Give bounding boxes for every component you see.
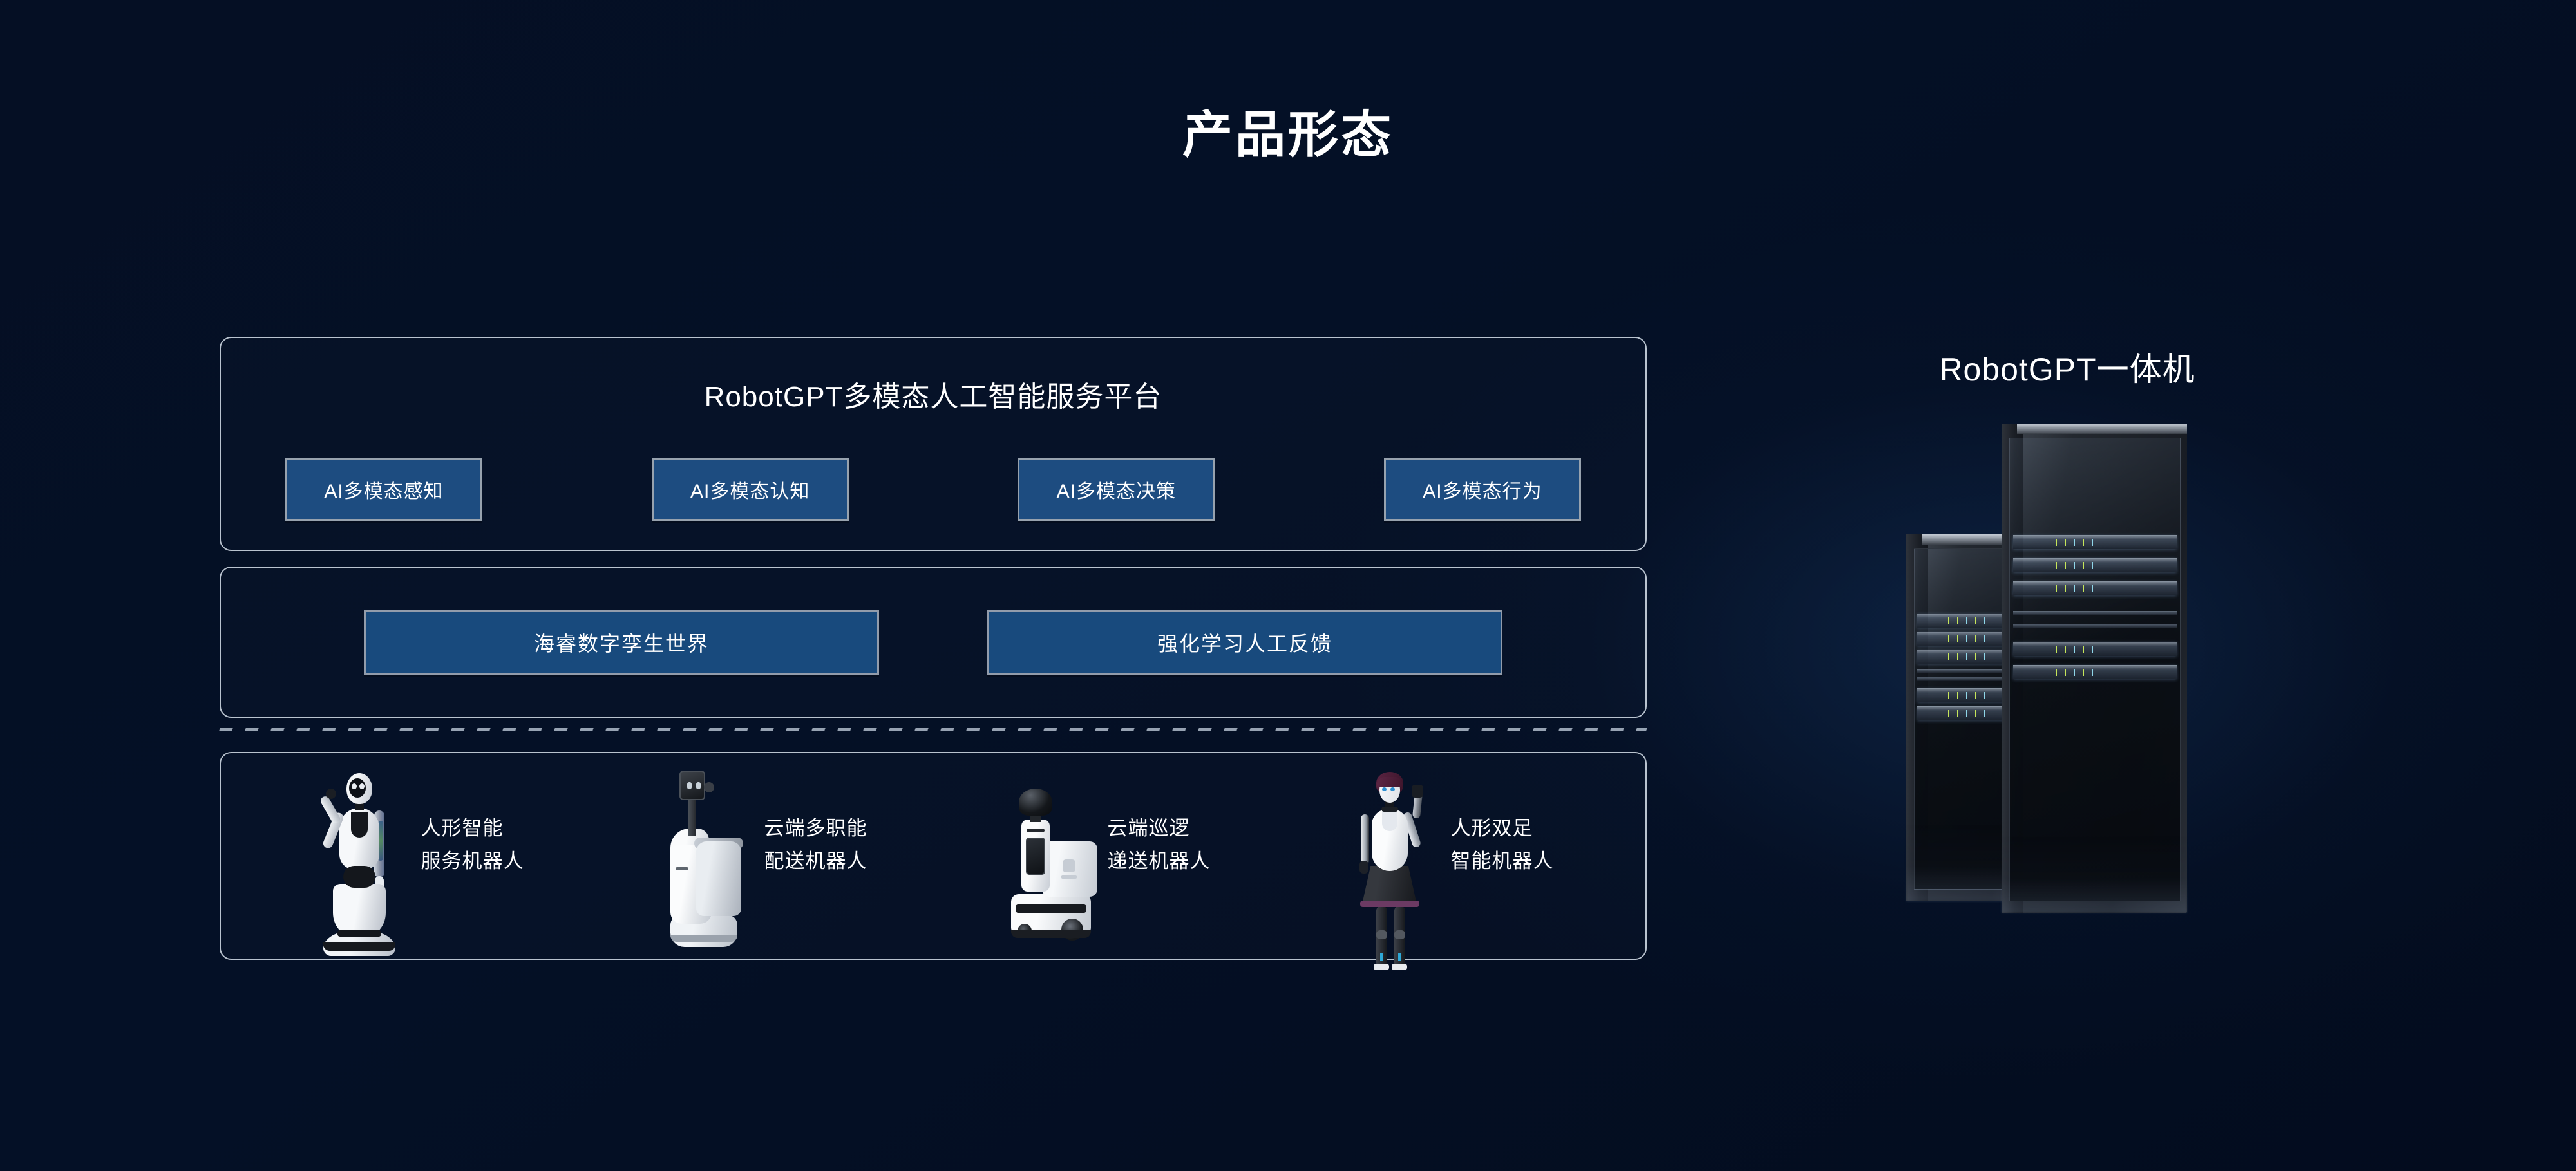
- robot-label-line1: 云端多职能: [764, 812, 867, 845]
- robot-label-line2: 配送机器人: [764, 845, 867, 877]
- server-rack-icon: [1906, 412, 2241, 1030]
- robot-row: 人形智能 服务机器人 云端多职能 配送机器人: [247, 767, 1620, 950]
- biped-humanoid-robot-icon: [1343, 769, 1439, 950]
- robot-label-humanoid-service: 人形智能 服务机器人: [421, 812, 524, 904]
- platform-card-title: RobotGPT多模态人工智能服务平台: [221, 373, 1645, 415]
- robot-item-cloud-patrol[interactable]: 云端巡逻 递送机器人: [999, 767, 1211, 950]
- robot-label-line2: 服务机器人: [421, 845, 524, 877]
- robots-card: 人形智能 服务机器人 云端多职能 配送机器人: [220, 752, 1647, 960]
- robot-label-line2: 递送机器人: [1108, 845, 1211, 877]
- robot-label-line1: 人形智能: [421, 812, 524, 845]
- slide-canvas: 产品形态 RobotGPT多模态人工智能服务平台 AI多模态感知 AI多模态认知…: [0, 0, 2576, 1171]
- engine-card: 海睿数字孪生世界 强化学习人工反馈: [220, 567, 1647, 718]
- humanoid-service-robot-icon: [313, 769, 410, 950]
- robot-item-biped-humanoid[interactable]: 人形双足 智能机器人: [1343, 767, 1554, 950]
- chip-ai-decision[interactable]: AI多模态决策: [1018, 458, 1215, 521]
- server-rack-large: [2002, 424, 2187, 913]
- appliance-title: RobotGPT一体机: [1842, 344, 2293, 390]
- cloud-delivery-robot-icon: [656, 769, 753, 950]
- chip-ai-perception[interactable]: AI多模态感知: [285, 458, 482, 521]
- engine-bar-row: 海睿数字孪生世界 强化学习人工反馈: [364, 610, 1502, 675]
- chip-ai-cognition[interactable]: AI多模态认知: [652, 458, 849, 521]
- page-title: 产品形态: [0, 109, 2576, 160]
- platform-card: RobotGPT多模态人工智能服务平台 AI多模态感知 AI多模态认知 AI多模…: [220, 337, 1647, 551]
- rack-glass-door: [2009, 438, 2181, 901]
- dashed-divider: [219, 728, 1647, 731]
- robot-label-line1: 人形双足: [1451, 812, 1554, 845]
- robot-label-cloud-delivery: 云端多职能 配送机器人: [764, 812, 867, 904]
- bar-digital-twin-world[interactable]: 海睿数字孪生世界: [364, 610, 879, 675]
- rack-top-panel: [2017, 424, 2187, 434]
- platform-chip-row: AI多模态感知 AI多模态认知 AI多模态决策 AI多模态行为: [285, 458, 1581, 521]
- chip-ai-behavior[interactable]: AI多模态行为: [1384, 458, 1581, 521]
- robot-label-line2: 智能机器人: [1451, 845, 1554, 877]
- bar-rlhf[interactable]: 强化学习人工反馈: [987, 610, 1502, 675]
- cloud-patrol-robot-icon: [999, 769, 1096, 950]
- robot-label-cloud-patrol: 云端巡逻 递送机器人: [1108, 812, 1211, 904]
- robot-item-humanoid-service[interactable]: 人形智能 服务机器人: [313, 767, 524, 950]
- robot-item-cloud-delivery[interactable]: 云端多职能 配送机器人: [656, 767, 867, 950]
- robot-label-line1: 云端巡逻: [1108, 812, 1211, 845]
- robot-label-biped-humanoid: 人形双足 智能机器人: [1451, 812, 1554, 904]
